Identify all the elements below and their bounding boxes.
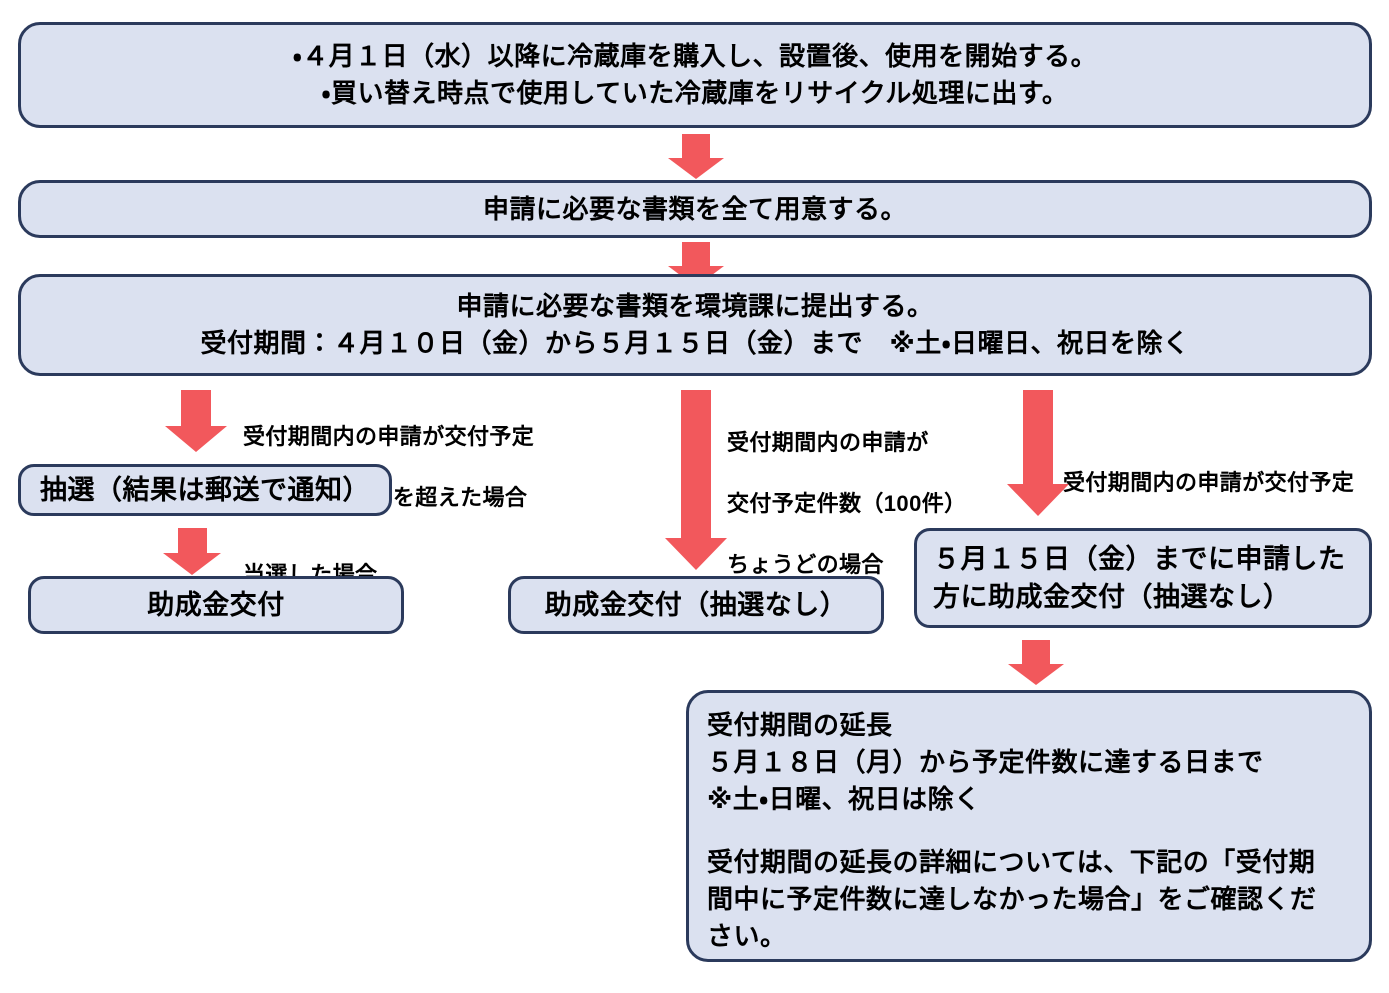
arrow-submit-to-grant-middle (665, 390, 727, 570)
exact-quota-line-3: ちょうどの場合 (727, 552, 884, 577)
box-grant-right: ５月１５日（金）までに申請した 方に助成金交付（抽選なし） (914, 528, 1372, 628)
submit-documents-line-1: 申請に必要な書類を環境課に提出する。 (456, 288, 933, 325)
box-grant-left: 助成金交付 (28, 576, 404, 634)
prepare-documents-line-1: 申請に必要な書類を全て用意する。 (483, 191, 907, 228)
exact-quota-line-2: 交付予定件数（100件） (727, 491, 967, 516)
extension-line-7: さい。 (707, 918, 787, 955)
flowchart-canvas: ・４月１日（水）以降に冷蔵庫を購入し、設置後、使用を開始する。 ・買い替え時点で… (0, 0, 1389, 993)
over-quota-line-1: 受付期間内の申請が交付予定 (243, 424, 534, 449)
box-grant-middle: 助成金交付（抽選なし） (508, 576, 884, 634)
arrow-grant-right-to-extension (1008, 640, 1064, 685)
extension-line-5: 受付期間の延長の詳細については、下記の「受付期 (707, 844, 1315, 881)
extension-line-4 (707, 818, 715, 844)
box-purchase-conditions: ・４月１日（水）以降に冷蔵庫を購入し、設置後、使用を開始する。 ・買い替え時点で… (18, 22, 1372, 128)
purchase-conditions-line-1: ・４月１日（水）以降に冷蔵庫を購入し、設置後、使用を開始する。 (293, 38, 1097, 75)
under-quota-line-1: 受付期間内の申請が交付予定 (1063, 470, 1354, 495)
grant-right-line-2: 方に助成金交付（抽選なし） (933, 578, 1291, 616)
extension-line-3: ※土・日曜、祝日は除く (707, 781, 981, 818)
arrow-submit-to-lottery (165, 390, 227, 452)
extension-line-2: ５月１８日（月）から予定件数に達する日まで (707, 744, 1264, 781)
box-lottery: 抽選（結果は郵送で通知） (18, 464, 392, 516)
lottery-line-1: 抽選（結果は郵送で通知） (40, 471, 370, 509)
arrow-lottery-to-grant-left (163, 528, 221, 575)
box-extension-details: 受付期間の延長 ５月１８日（月）から予定件数に達する日まで ※土・日曜、祝日は除… (686, 690, 1372, 962)
extension-line-6: 間中に予定件数に達しなかった場合」をご確認くだ (707, 881, 1317, 918)
submit-documents-line-2: 受付期間：４月１０日（金）から５月１５日（金）まで ※土・日曜日、祝日を除く (200, 325, 1189, 362)
box-prepare-documents: 申請に必要な書類を全て用意する。 (18, 180, 1372, 238)
arrow-purchase-to-prepare (668, 134, 724, 179)
grant-middle-line-1: 助成金交付（抽選なし） (545, 586, 848, 624)
grant-right-line-1: ５月１５日（金）までに申請した (933, 540, 1346, 578)
arrow-submit-to-grant-right (1007, 390, 1069, 516)
purchase-conditions-line-2: ・買い替え時点で使用していた冷蔵庫をリサイクル処理に出す。 (322, 75, 1069, 112)
extension-line-1: 受付期間の延長 (707, 707, 893, 744)
box-submit-documents: 申請に必要な書類を環境課に提出する。 受付期間：４月１０日（金）から５月１５日（… (18, 274, 1372, 376)
exact-quota-line-1: 受付期間内の申請が (727, 430, 929, 455)
grant-left-line-1: 助成金交付 (147, 586, 285, 624)
